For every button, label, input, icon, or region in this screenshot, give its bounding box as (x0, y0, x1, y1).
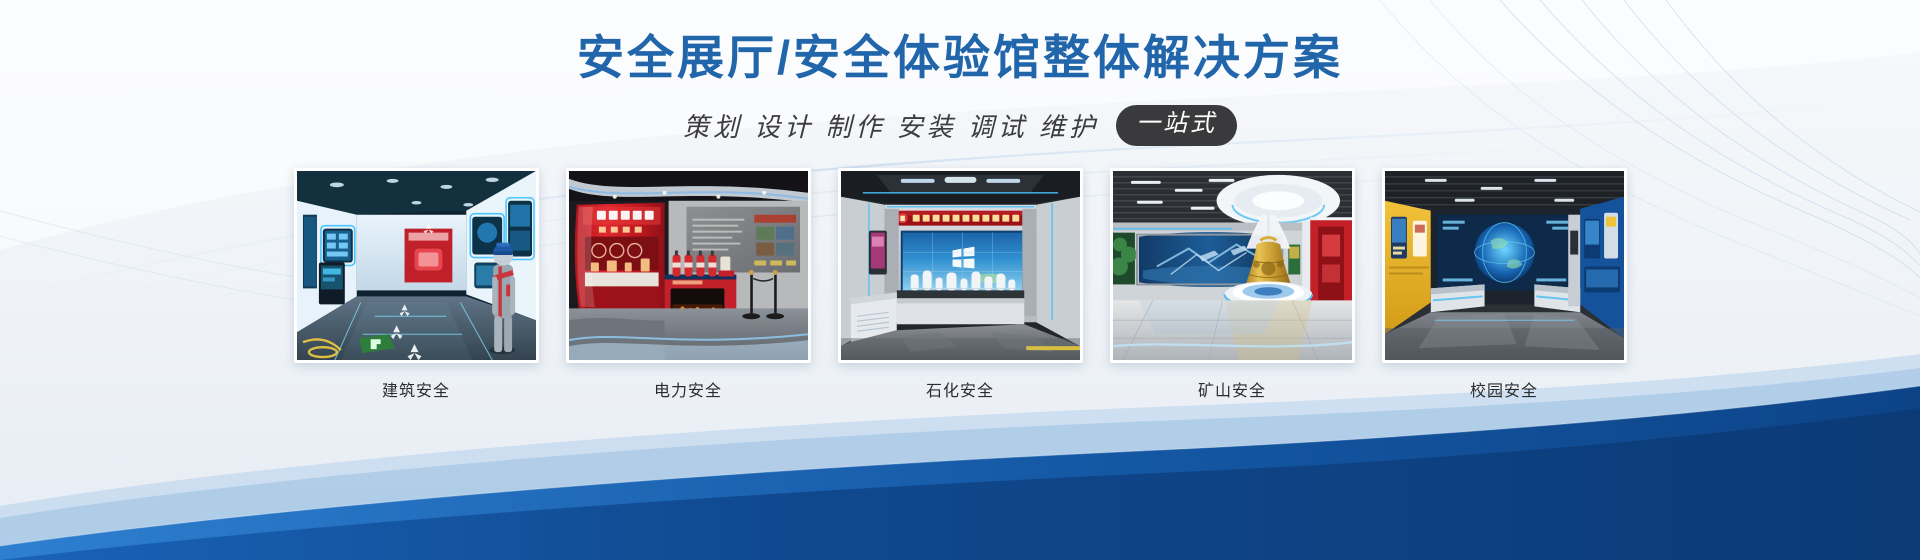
card-caption: 电力安全 (566, 377, 811, 401)
scene-campus-safety (1385, 171, 1624, 360)
card-caption: 矿山安全 (1110, 377, 1355, 401)
one-stop-badge: 一站式 (1116, 105, 1237, 146)
thumbnail-campus-safety[interactable] (1382, 168, 1627, 363)
card-caption: 校园安全 (1382, 377, 1627, 401)
showcase-card[interactable]: 石化安全 (838, 168, 1083, 401)
card-caption: 石化安全 (838, 377, 1083, 401)
service-steps-text: 策划 设计 制作 安装 调试 维护 (683, 107, 1099, 144)
thumbnail-petrochemical-safety[interactable] (838, 168, 1083, 363)
promo-banner: 安全展厅/安全体验馆整体解决方案 策划 设计 制作 安装 调试 维护 一站式 (0, 0, 1920, 560)
thumbnail-construction-safety[interactable] (294, 168, 539, 363)
page-title: 安全展厅/安全体验馆整体解决方案 (0, 0, 1920, 88)
scene-petrochemical-safety (841, 171, 1080, 360)
scene-mine-safety (1113, 171, 1352, 360)
scene-power-safety (569, 171, 808, 360)
thumbnail-power-safety[interactable] (566, 168, 811, 363)
scene-construction-safety (297, 171, 536, 360)
showcase-card[interactable]: 建筑安全 (294, 168, 539, 401)
subtitle-row: 策划 设计 制作 安装 调试 维护 一站式 (0, 105, 1920, 146)
showcase-card-list: 建筑安全 (0, 168, 1920, 401)
thumbnail-mine-safety[interactable] (1110, 168, 1355, 363)
banner-header: 安全展厅/安全体验馆整体解决方案 策划 设计 制作 安装 调试 维护 一站式 (0, 0, 1920, 146)
showcase-card[interactable]: 矿山安全 (1110, 168, 1355, 401)
showcase-card[interactable]: 校园安全 (1382, 168, 1627, 401)
showcase-card[interactable]: 电力安全 (566, 168, 811, 401)
card-caption: 建筑安全 (294, 377, 539, 401)
